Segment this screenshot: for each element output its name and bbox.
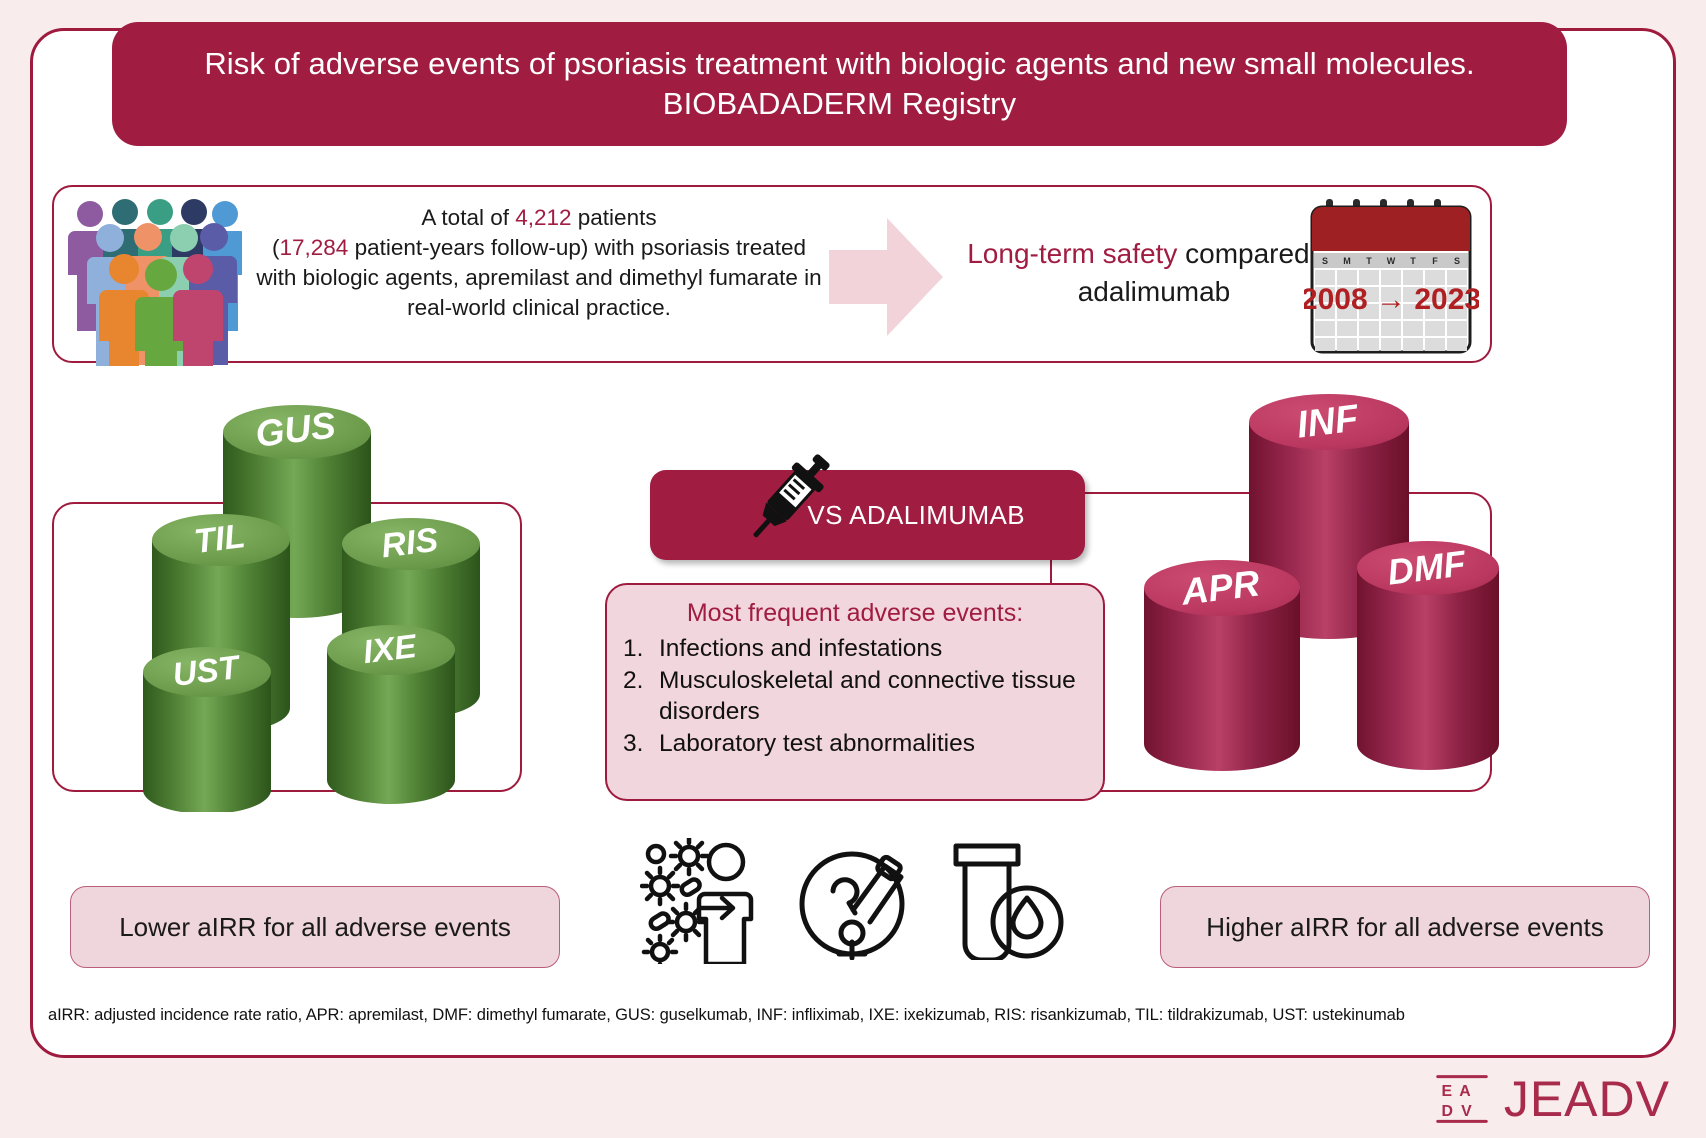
joint-bone-icon: [797, 838, 915, 960]
jeadv-logo-text: JEADV: [1504, 1070, 1670, 1128]
right-arrow-icon: [829, 212, 949, 342]
vs-adalimumab-banner: VS ADALIMUMAB: [650, 470, 1085, 560]
calendar-year-range: 2008 → 2023: [1304, 283, 1479, 316]
svg-text:F: F: [1432, 256, 1438, 266]
cylinder-ust: UST: [143, 647, 271, 812]
svg-text:V: V: [1461, 1103, 1472, 1120]
lower-airr-pill: Lower aIRR for all adverse events: [70, 886, 560, 968]
cylinder-til-label: TIL: [192, 517, 247, 561]
jeadv-logo: EA DV JEADV: [1434, 1070, 1670, 1128]
adverse-events-card: Most frequent adverse events: Infections…: [605, 583, 1105, 801]
summary-text: A total of 4,212 patients (17,284 patien…: [254, 203, 824, 323]
cylinder-ixe: IXE: [327, 625, 455, 804]
abbreviations-footnote: aIRR: adjusted incidence rate ratio, APR…: [48, 1006, 1608, 1025]
infection-germs-person-icon: [640, 838, 764, 964]
lab-test-tube-blood-drop-icon: [948, 838, 1070, 960]
page-title-text: Risk of adverse events of psoriasis trea…: [152, 44, 1527, 123]
svg-text:W: W: [1387, 256, 1396, 266]
green-treatment-cylinder-group: GUS RIS TIL IXE UST: [142, 372, 562, 812]
red-treatment-cylinder-group: INF DMF APR: [1092, 372, 1512, 812]
cylinder-ris-label: RIS: [379, 521, 440, 566]
lower-airr-pill-label: Lower aIRR for all adverse events: [119, 912, 511, 943]
cylinder-ixe-label: IXE: [361, 627, 419, 670]
svg-text:A: A: [1459, 1083, 1471, 1100]
cylinder-inf-label: INF: [1295, 397, 1363, 446]
higher-airr-pill: Higher aIRR for all adverse events: [1160, 886, 1650, 968]
adverse-event-icons-row: [640, 838, 1070, 968]
adverse-event-item-3: Laboratory test abnormalities: [659, 729, 1085, 759]
svg-text:S: S: [1454, 256, 1460, 266]
syringe-icon: [735, 442, 845, 552]
eadv-logo-mark-icon: EA DV: [1434, 1071, 1490, 1127]
page-title: Risk of adverse events of psoriasis trea…: [112, 22, 1567, 146]
svg-text:T: T: [1410, 256, 1416, 266]
adverse-event-item-1: Infections and infestations: [659, 634, 1085, 664]
summary-line1-post: patients: [572, 205, 657, 230]
adverse-events-title: Most frequent adverse events:: [621, 599, 1089, 628]
patients-count: 4,212: [515, 205, 571, 230]
svg-text:D: D: [1441, 1103, 1452, 1120]
summary-line1-pre: A total of: [421, 205, 515, 230]
svg-text:T: T: [1366, 256, 1372, 266]
cylinder-dmf: DMF: [1357, 541, 1499, 770]
calendar-icon: SMT WTFS 2008 → 2023: [1304, 197, 1479, 357]
patient-years-count: 17,284: [279, 235, 348, 260]
svg-text:S: S: [1322, 256, 1328, 266]
adverse-events-list: Infections and infestations Musculoskele…: [621, 634, 1089, 760]
higher-airr-pill-label: Higher aIRR for all adverse events: [1206, 912, 1603, 943]
people-group-icon: [62, 181, 242, 366]
adverse-event-item-2: Musculoskeletal and connective tissue di…: [659, 666, 1085, 727]
svg-text:E: E: [1441, 1083, 1452, 1100]
summary-card: A total of 4,212 patients (17,284 patien…: [52, 185, 1492, 363]
cylinder-apr: APR: [1144, 560, 1300, 771]
safety-highlight: Long-term safety: [967, 238, 1177, 269]
svg-text:M: M: [1343, 256, 1351, 266]
